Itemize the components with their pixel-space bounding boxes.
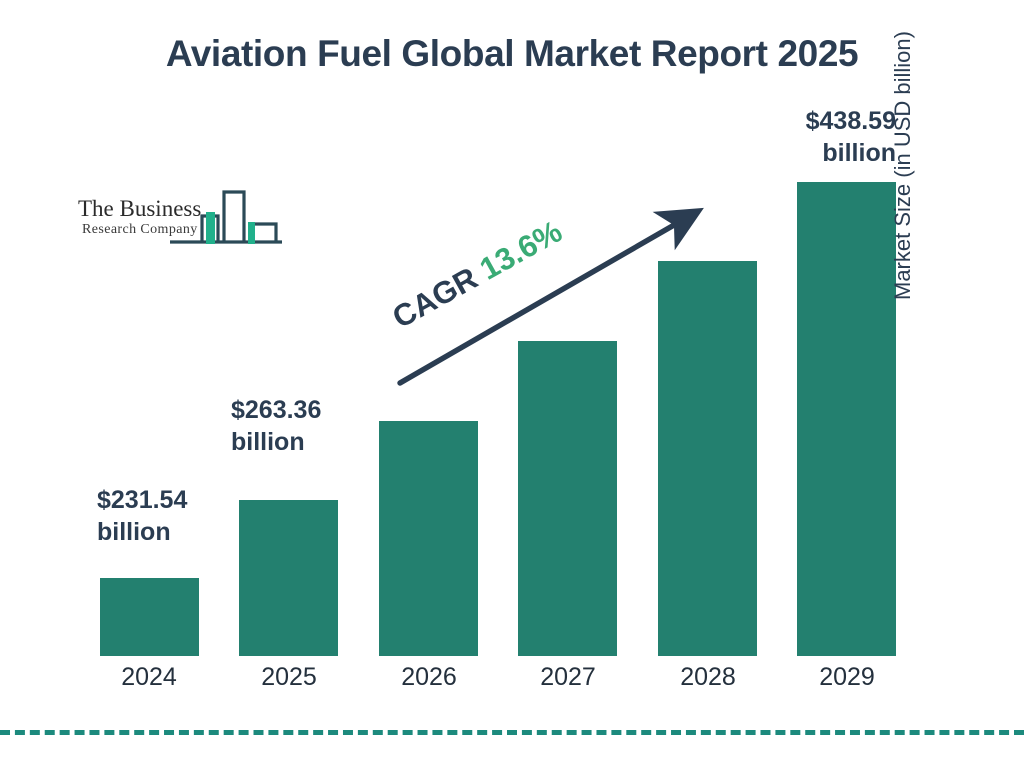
value-label-2025: $263.36 billion bbox=[231, 394, 321, 458]
bar-2026 bbox=[379, 421, 478, 656]
chart-canvas: Aviation Fuel Global Market Report 2025 … bbox=[0, 0, 1024, 768]
bar-2028 bbox=[658, 261, 757, 656]
value-label-2029: $438.59 billion bbox=[699, 105, 896, 169]
x-tick-2025: 2025 bbox=[229, 663, 349, 692]
bar-2029 bbox=[797, 182, 896, 656]
footer-divider bbox=[0, 730, 1024, 735]
x-tick-2028: 2028 bbox=[648, 663, 768, 692]
cagr-label: CAGR bbox=[387, 260, 484, 335]
plot-area: $231.54 billion $263.36 billion $438.59 … bbox=[0, 0, 1024, 768]
x-tick-2026: 2026 bbox=[369, 663, 489, 692]
x-tick-2024: 2024 bbox=[89, 663, 209, 692]
y-axis-title: Market Size (in USD billion) bbox=[890, 0, 916, 300]
value-label-2024: $231.54 billion bbox=[97, 484, 187, 548]
x-tick-2027: 2027 bbox=[508, 663, 628, 692]
bar-2024 bbox=[100, 578, 199, 656]
bar-2025 bbox=[239, 500, 338, 656]
x-tick-2029: 2029 bbox=[787, 663, 907, 692]
bar-2027 bbox=[518, 341, 617, 656]
cagr-value: 13.6% bbox=[474, 213, 568, 286]
cagr-annotation: CAGR 13.6% bbox=[387, 213, 569, 336]
